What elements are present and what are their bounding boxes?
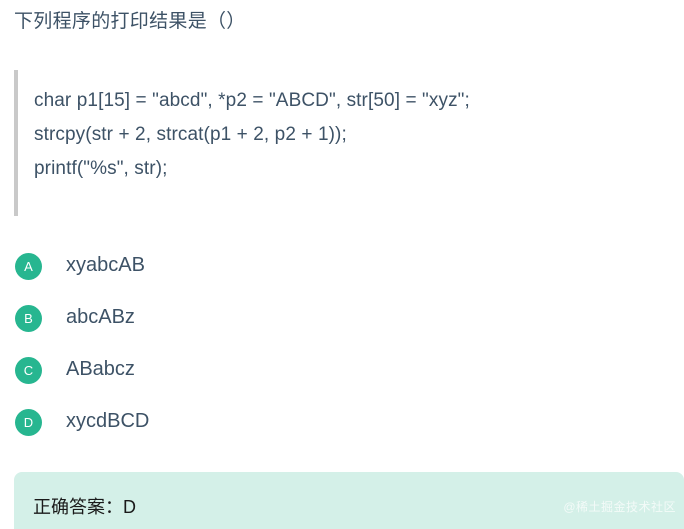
code-lines: char p1[15] = "abcd", *p2 = "ABCD", str[… — [18, 70, 684, 186]
option-item-a[interactable]: A xyabcAB — [0, 251, 684, 303]
option-label-d[interactable]: xycdBCD — [66, 406, 149, 437]
option-badge-d[interactable]: D — [15, 409, 42, 436]
option-badge-c[interactable]: C — [15, 357, 42, 384]
option-badge-b[interactable]: B — [15, 305, 42, 332]
code-line: strcpy(str + 2, strcat(p1 + 2, p2 + 1)); — [34, 118, 684, 152]
option-item-c[interactable]: C ABabcz — [0, 355, 684, 407]
code-line: char p1[15] = "abcd", *p2 = "ABCD", str[… — [34, 84, 684, 118]
option-label-b[interactable]: abcABz — [66, 302, 135, 333]
code-block: char p1[15] = "abcd", *p2 = "ABCD", str[… — [14, 70, 684, 216]
code-line: printf("%s", str); — [34, 152, 684, 186]
page-title: 下列程序的打印结果是（） — [14, 8, 246, 36]
options-list: A xyabcAB B abcABz C ABabcz D xycdBCD — [0, 251, 684, 459]
option-label-a[interactable]: xyabcAB — [66, 250, 145, 281]
option-label-c[interactable]: ABabcz — [66, 354, 135, 385]
option-item-b[interactable]: B abcABz — [0, 303, 684, 355]
option-badge-a[interactable]: A — [15, 253, 42, 280]
watermark-text: @稀土掘金技术社区 — [563, 498, 676, 516]
correct-answer-bar: 正确答案：D @稀土掘金技术社区 — [14, 472, 684, 529]
option-item-d[interactable]: D xycdBCD — [0, 407, 684, 459]
correct-answer-text: 正确答案：D — [33, 494, 136, 520]
